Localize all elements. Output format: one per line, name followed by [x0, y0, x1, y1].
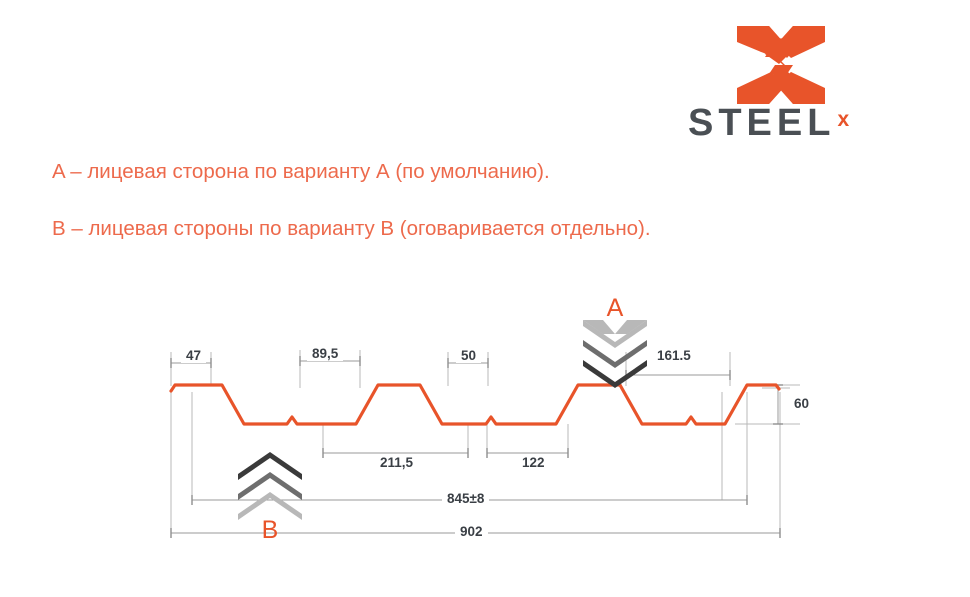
- dim-label-161-5: 161.5: [652, 348, 696, 363]
- dimension-lines: [171, 361, 780, 533]
- dim-label-89-5: 89,5: [307, 346, 343, 361]
- marker-b-chevrons: [238, 452, 302, 520]
- dim-label-211-5: 211,5: [375, 455, 418, 470]
- dimension-ticks: [171, 356, 783, 538]
- dim-label-845: 845±8: [442, 491, 489, 506]
- marker-a-letter: A: [583, 294, 647, 323]
- drawing-canvas: STEELx A – лицевая сторона по варианту А…: [0, 0, 970, 597]
- dim-label-902: 902: [455, 524, 488, 539]
- steel-profile-outline: [171, 385, 779, 424]
- marker-b-letter-wrap: B: [238, 516, 302, 544]
- dim-label-47: 47: [181, 348, 206, 363]
- marker-a-chevrons: [583, 320, 647, 388]
- dim-label-122: 122: [517, 455, 550, 470]
- marker-a-letter-wrap: A: [583, 294, 647, 322]
- profile-cross-section-drawing: [0, 0, 970, 597]
- marker-b-letter: B: [238, 516, 302, 545]
- dim-label-60: 60: [789, 396, 814, 411]
- dim-label-50: 50: [456, 348, 481, 363]
